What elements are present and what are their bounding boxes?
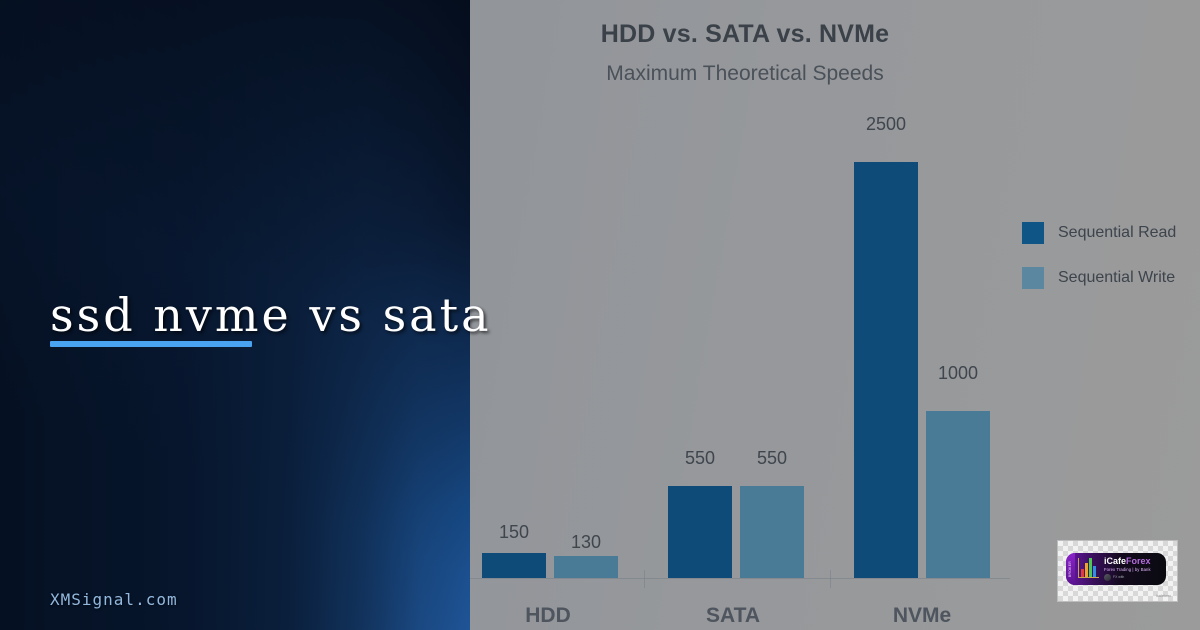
logo-text-block: iCafeForex Forex Trading | by Bank FX wi… — [1100, 557, 1166, 581]
legend-item-sequential-read[interactable]: Sequential Read — [1022, 222, 1176, 244]
screenshot-root: HDD vs. SATA vs. NVMe Maximum Theoretica… — [0, 0, 1200, 630]
logo-name: iCafeForex — [1104, 557, 1166, 566]
bar-hdd-read[interactable] — [482, 553, 546, 578]
logo-seal-icon — [1104, 574, 1111, 581]
site-watermark: XMSignal.com — [50, 590, 178, 609]
bar-sata-write[interactable] — [740, 486, 804, 578]
bar-label-nvme-write: 1000 — [898, 363, 1018, 384]
logo-sub-text: FX with — [1113, 576, 1124, 579]
logo-tagline: Forex Trading | by Bank — [1104, 568, 1166, 572]
x-category-label-hdd: HDD — [448, 604, 648, 628]
bar-label-sata-write: 550 — [712, 448, 832, 469]
bar-nvme-write[interactable] — [926, 411, 990, 578]
bar-sata-read[interactable] — [668, 486, 732, 578]
legend-label: Sequential Write — [1058, 269, 1175, 287]
x-category-label-sata: SATA — [633, 604, 833, 628]
bar-hdd-write[interactable] — [554, 556, 618, 578]
plot-area: 150 130 550 550 2500 1000 — [440, 120, 1010, 578]
chart-legend: Sequential Read Sequential Write — [1022, 222, 1176, 312]
legend-label: Sequential Read — [1058, 224, 1176, 242]
overlay-title: ssd nvme vs sata — [50, 288, 492, 342]
logo-sub-row: FX with — [1104, 574, 1166, 581]
logo-footer-text: icafeforex — [1156, 594, 1171, 598]
logo-pill: BROKER iCafeForex Forex Trading | by Ban… — [1066, 553, 1166, 585]
logo-name-secondary: Forex — [1126, 556, 1151, 566]
legend-swatch-icon — [1022, 267, 1044, 289]
bar-label-hdd-write: 130 — [526, 532, 646, 553]
logo-side-tab: BROKER — [1066, 553, 1075, 585]
bar-chart-icon — [1078, 557, 1100, 581]
overlay-title-underline — [50, 341, 252, 347]
logo-name-primary: iCafe — [1104, 556, 1126, 566]
legend-swatch-icon — [1022, 222, 1044, 244]
x-category-label-nvme: NVMe — [822, 604, 1022, 628]
legend-item-sequential-write[interactable]: Sequential Write — [1022, 267, 1176, 289]
bar-label-nvme-read: 2500 — [826, 114, 946, 135]
logo-side-text: BROKER — [1069, 561, 1073, 577]
logo-badge[interactable]: BROKER iCafeForex Forex Trading | by Ban… — [1058, 541, 1177, 601]
